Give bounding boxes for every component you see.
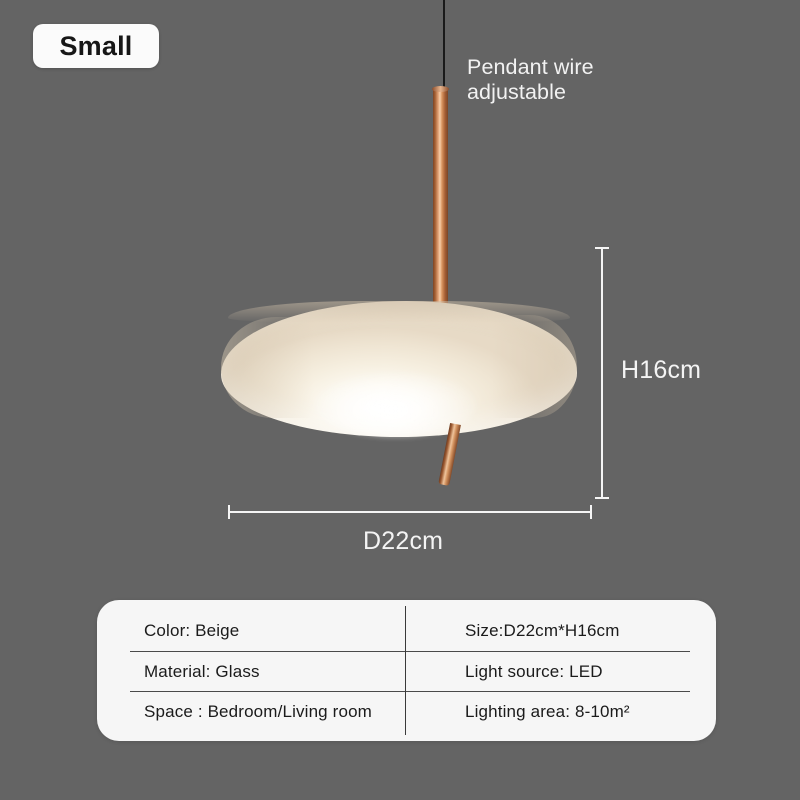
table-row: Material: Glass Light source: LED <box>130 651 690 692</box>
pendant-rod-cap-icon <box>432 86 449 92</box>
size-badge: Small <box>33 24 159 68</box>
spec-space: Space : Bedroom/Living room <box>130 703 405 720</box>
lamp-shade-body <box>221 301 577 437</box>
specification-table: Color: Beige Size:D22cm*H16cm Material: … <box>130 610 690 732</box>
width-dimension-line <box>228 511 592 513</box>
width-dimension-cap-left <box>228 505 230 519</box>
table-row: Color: Beige Size:D22cm*H16cm <box>130 610 690 651</box>
spec-material: Material: Glass <box>130 663 405 680</box>
spec-lighting-area: Lighting area: 8-10m² <box>405 703 690 720</box>
table-row: Space : Bedroom/Living room Lighting are… <box>130 691 690 732</box>
spec-light-source: Light source: LED <box>405 663 690 680</box>
size-badge-label: Small <box>59 33 132 60</box>
product-image-canvas: Small Pendant wire adjustable H16cm D22c… <box>0 0 800 800</box>
spec-size: Size:D22cm*H16cm <box>405 622 690 639</box>
specification-card: Color: Beige Size:D22cm*H16cm Material: … <box>97 600 716 741</box>
pendant-wire <box>443 0 445 90</box>
height-dimension-line <box>601 247 603 499</box>
spec-color: Color: Beige <box>130 622 405 639</box>
width-dimension-label: D22cm <box>363 529 443 554</box>
specification-column-divider <box>405 606 406 735</box>
width-dimension-cap-right <box>590 505 592 519</box>
pendant-rod <box>433 88 448 310</box>
pendant-wire-callout: Pendant wire adjustable <box>467 55 594 105</box>
height-dimension-cap-top <box>595 247 609 249</box>
height-dimension-cap-bottom <box>595 497 609 499</box>
height-dimension-label: H16cm <box>621 358 701 383</box>
lamp-shade <box>221 301 577 437</box>
